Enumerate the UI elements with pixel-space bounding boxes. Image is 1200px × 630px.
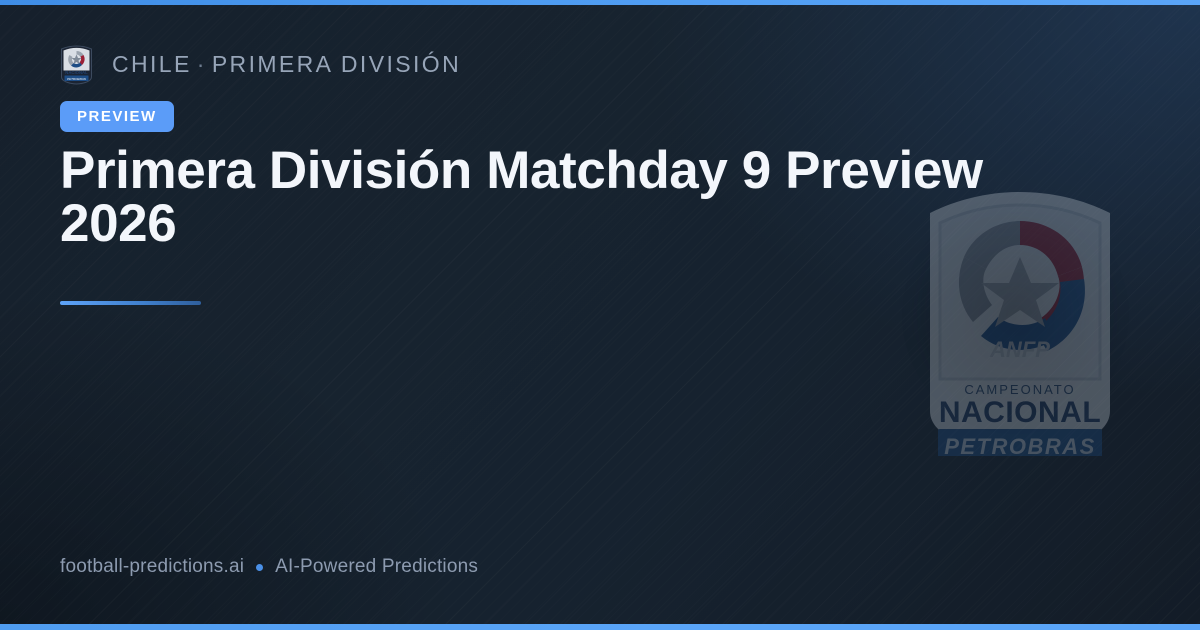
breadcrumb-separator: · xyxy=(192,51,212,77)
svg-text:NACIONAL: NACIONAL xyxy=(65,70,88,75)
crest-top-text: CAMPEONATO xyxy=(964,382,1075,397)
social-preview-card: NACIONAL PETROBRAS CHILE·PRIMERA DIVISIÓ… xyxy=(0,0,1200,630)
crest-main-text: NACIONAL xyxy=(939,396,1101,429)
footer: football-predictions.ai AI-Powered Predi… xyxy=(60,556,478,578)
breadcrumb: NACIONAL PETROBRAS CHILE·PRIMERA DIVISIÓ… xyxy=(60,44,461,85)
crest-sponsor-text: PETROBRAS xyxy=(944,434,1096,456)
footer-site: football-predictions.ai xyxy=(60,556,244,578)
campeonato-nacional-petrobras-crest-icon: ANFP CAMPEONATO NACIONAL PETROBRAS xyxy=(924,179,1116,456)
campeonato-nacional-petrobras-crest-icon: NACIONAL PETROBRAS xyxy=(60,44,93,85)
svg-text:PETROBRAS: PETROBRAS xyxy=(67,77,86,81)
breadcrumb-competition: PRIMERA DIVISIÓN xyxy=(212,51,461,77)
status-badge: PREVIEW xyxy=(60,101,174,132)
title-accent-rule xyxy=(60,301,201,305)
bottom-accent-bar xyxy=(0,624,1200,630)
top-accent-bar xyxy=(0,0,1200,5)
bullet-dot-icon xyxy=(256,564,263,571)
breadcrumb-country: CHILE xyxy=(112,51,192,77)
breadcrumb-text: CHILE·PRIMERA DIVISIÓN xyxy=(112,51,461,78)
crest-inner-text: ANFP xyxy=(989,337,1050,362)
footer-tagline: AI-Powered Predictions xyxy=(275,556,478,578)
hero-logo: ANFP CAMPEONATO NACIONAL PETROBRAS xyxy=(878,170,1153,460)
